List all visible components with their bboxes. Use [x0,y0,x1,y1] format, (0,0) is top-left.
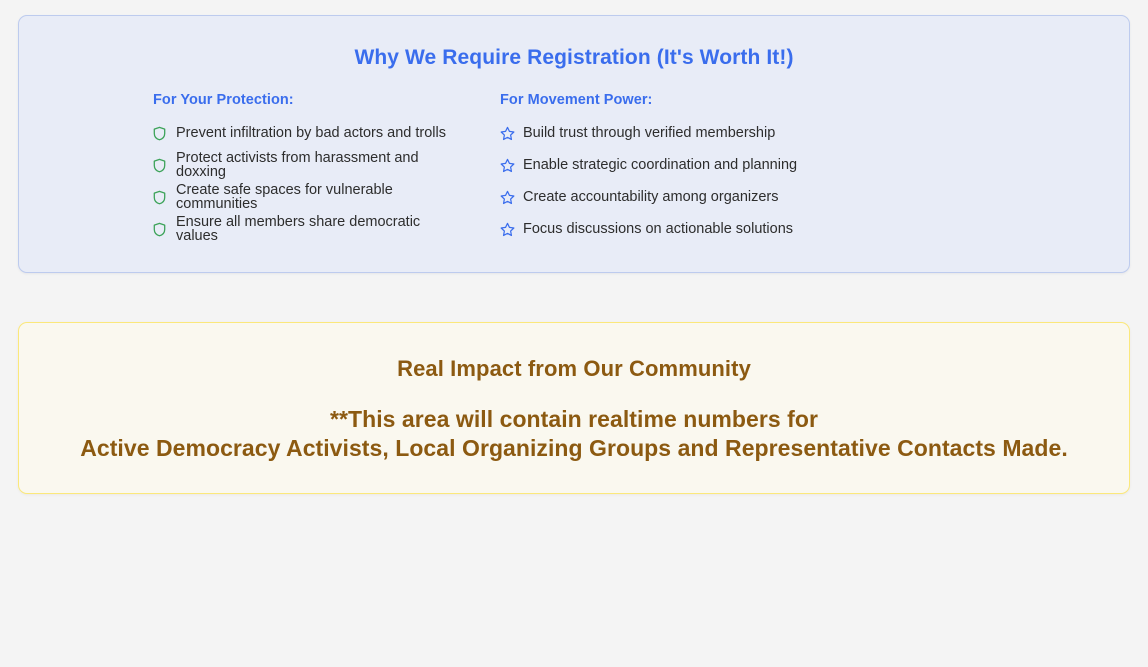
movement-power-column-heading: For Movement Power: [500,92,1019,108]
list-item: Protect activists from harassment and do… [153,149,459,181]
movement-power-column: For Movement Power: Build trust through … [459,92,1019,245]
page-root: Why We Require Registration (It's Worth … [0,0,1148,667]
registration-info-card: Why We Require Registration (It's Worth … [18,15,1130,273]
list-item-label: Create safe spaces for vulnerable commun… [175,183,459,212]
list-item: Create safe spaces for vulnerable commun… [153,181,459,213]
list-item: Build trust through verified membership [500,117,1019,149]
star-icon [500,158,522,173]
shield-icon [153,126,175,141]
list-item: Ensure all members share democratic valu… [153,213,459,245]
impact-placeholder-text: **This area will contain realtime number… [19,382,1129,463]
impact-placeholder-line-2: Active Democracy Activists, Local Organi… [19,434,1129,463]
community-impact-card: Real Impact from Our Community **This ar… [18,322,1130,494]
list-item: Focus discussions on actionable solution… [500,213,1019,245]
list-item-label: Build trust through verified membership [522,126,775,141]
list-item-label: Create accountability among organizers [522,190,779,205]
star-icon [500,190,522,205]
shield-icon [153,222,175,237]
list-item-label: Prevent infiltration by bad actors and t… [175,126,446,141]
list-item: Create accountability among organizers [500,181,1019,213]
protection-column: For Your Protection: Prevent infiltratio… [19,92,459,245]
list-item-label: Enable strategic coordination and planni… [522,158,797,173]
impact-card-title: Real Impact from Our Community [19,323,1129,382]
registration-card-title: Why We Require Registration (It's Worth … [19,16,1129,70]
shield-icon [153,190,175,205]
list-item-label: Focus discussions on actionable solution… [522,222,793,237]
star-icon [500,222,522,237]
protection-benefit-list: Prevent infiltration by bad actors and t… [153,117,459,245]
movement-power-benefit-list: Build trust through verified membership … [500,117,1019,245]
list-item: Enable strategic coordination and planni… [500,149,1019,181]
list-item: Prevent infiltration by bad actors and t… [153,117,459,149]
shield-icon [153,158,175,173]
protection-column-heading: For Your Protection: [153,92,459,108]
list-item-label: Ensure all members share democratic valu… [175,215,459,244]
list-item-label: Protect activists from harassment and do… [175,151,459,180]
star-icon [500,126,522,141]
benefits-columns: For Your Protection: Prevent infiltratio… [19,92,1129,245]
impact-placeholder-line-1: **This area will contain realtime number… [19,405,1129,434]
